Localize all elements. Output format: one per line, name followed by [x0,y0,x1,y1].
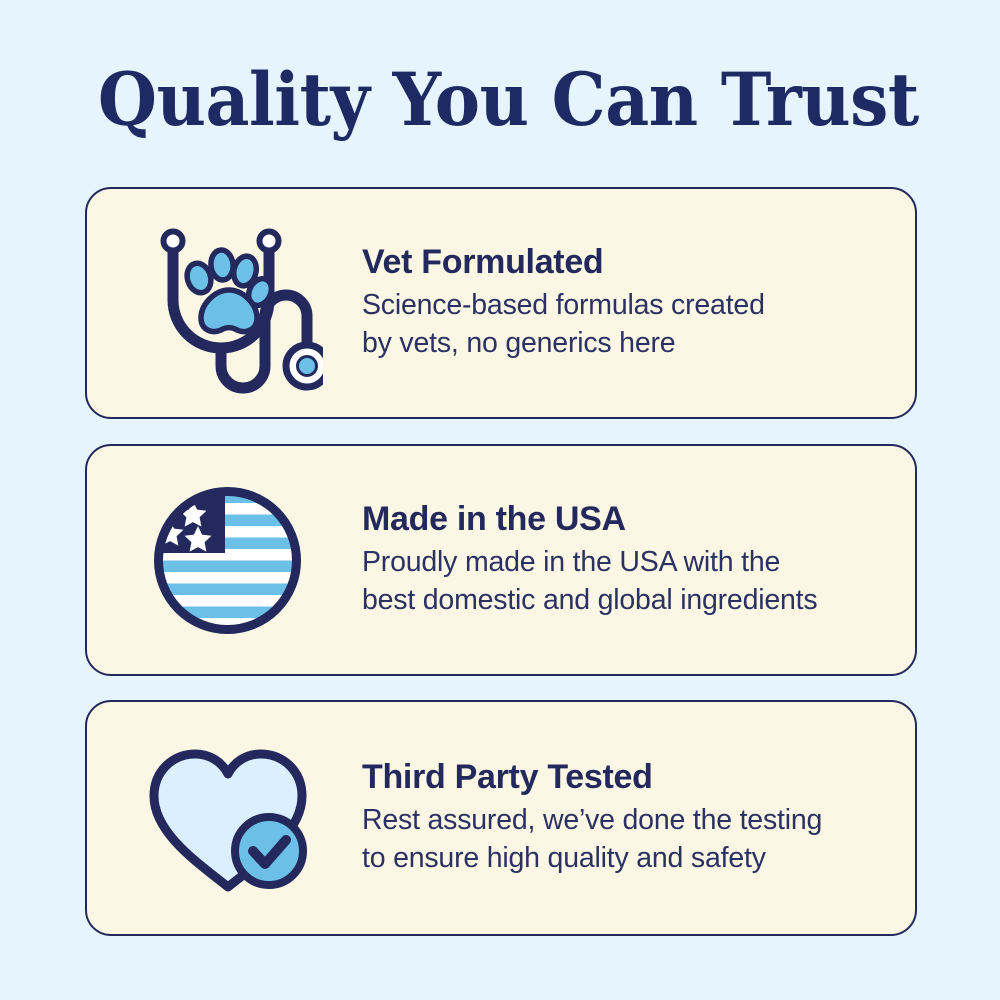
feature-card-text: Third Party Tested Rest assured, we’ve d… [362,758,915,877]
feature-description-line: by vets, no generics here [362,325,887,363]
feature-description: Science-based formulas created by vets, … [362,287,887,362]
page-title: Quality You Can Trust [88,52,928,148]
usa-flag-badge-icon [87,446,362,674]
feature-description-line: to ensure high quality and safety [362,840,887,878]
feature-title: Made in the USA [362,500,887,538]
heart-check-icon [87,702,362,934]
feature-description-line: Rest assured, we’ve done the testing [362,802,887,840]
feature-card-vet-formulated: Vet Formulated Science-based formulas cr… [85,187,917,419]
quality-you-can-trust-graphic: Quality You Can Trust [0,0,1000,1000]
feature-title: Third Party Tested [362,758,887,796]
feature-card-made-in-usa: Made in the USA Proudly made in the USA … [85,444,917,676]
feature-title: Vet Formulated [362,243,887,281]
feature-description-line: Proudly made in the USA with the [362,544,887,582]
feature-card-text: Vet Formulated Science-based formulas cr… [362,243,915,362]
feature-description: Proudly made in the USA with the best do… [362,544,887,619]
feature-description: Rest assured, we’ve done the testing to … [362,802,887,877]
feature-description-line: best domestic and global ingredients [362,582,887,620]
feature-card-third-party-tested: Third Party Tested Rest assured, we’ve d… [85,700,917,936]
feature-card-text: Made in the USA Proudly made in the USA … [362,500,915,619]
stethoscope-paw-icon [87,189,362,417]
feature-description-line: Science-based formulas created [362,287,887,325]
page-title-text: Quality You Can Trust [98,64,919,137]
